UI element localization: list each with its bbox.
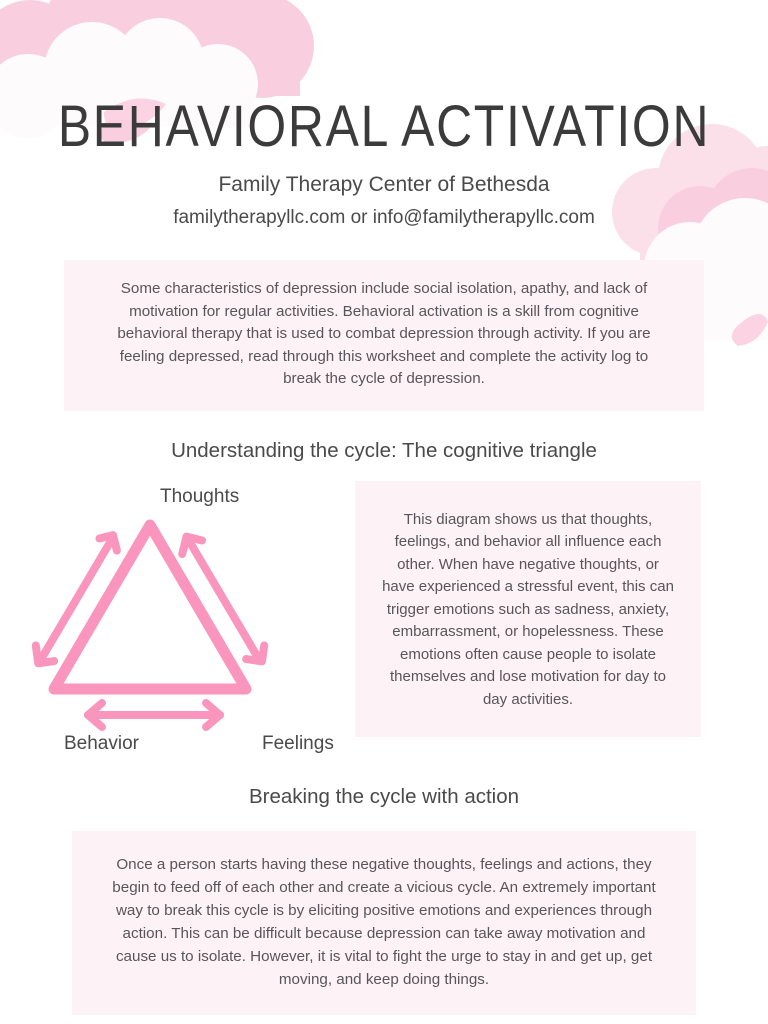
- triangle-label-thoughts: Thoughts: [160, 485, 239, 509]
- worksheet-page: BEHAVIORAL ACTIVATION Family Therapy Cen…: [0, 0, 768, 1024]
- triangle-graphic: [0, 477, 360, 749]
- cognitive-triangle-section: Thoughts Behavior Feelings: [0, 477, 768, 749]
- intro-text: Some characteristics of depression inclu…: [100, 278, 668, 391]
- cognitive-triangle-diagram: Thoughts Behavior Feelings: [0, 477, 360, 749]
- arrow-behavior-feelings-icon: [88, 703, 220, 727]
- triangle-label-behavior: Behavior: [64, 732, 139, 756]
- outro-text: Once a person starts having these negati…: [104, 853, 664, 991]
- cloud-wisp-right-icon: [732, 314, 768, 346]
- section-heading-breaking: Breaking the cycle with action: [0, 783, 768, 811]
- document-header: BEHAVIORAL ACTIVATION Family Therapy Cen…: [0, 0, 768, 232]
- triangle-outline-shape: [54, 525, 246, 689]
- triangle-label-feelings: Feelings: [262, 732, 334, 756]
- outro-panel: Once a person starts having these negati…: [72, 831, 696, 1015]
- intro-panel: Some characteristics of depression inclu…: [64, 260, 704, 411]
- diagram-explanation-panel: This diagram shows us that thoughts, fee…: [355, 481, 701, 738]
- page-title: BEHAVIORAL ACTIVATION: [54, 96, 714, 158]
- section-heading-cycle: Understanding the cycle: The cognitive t…: [0, 437, 768, 465]
- organization-name: Family Therapy Center of Bethesda: [0, 170, 768, 200]
- diagram-explanation-text: This diagram shows us that thoughts, fee…: [381, 509, 675, 712]
- contact-info: familytherapyllc.com or info@familythera…: [0, 204, 768, 232]
